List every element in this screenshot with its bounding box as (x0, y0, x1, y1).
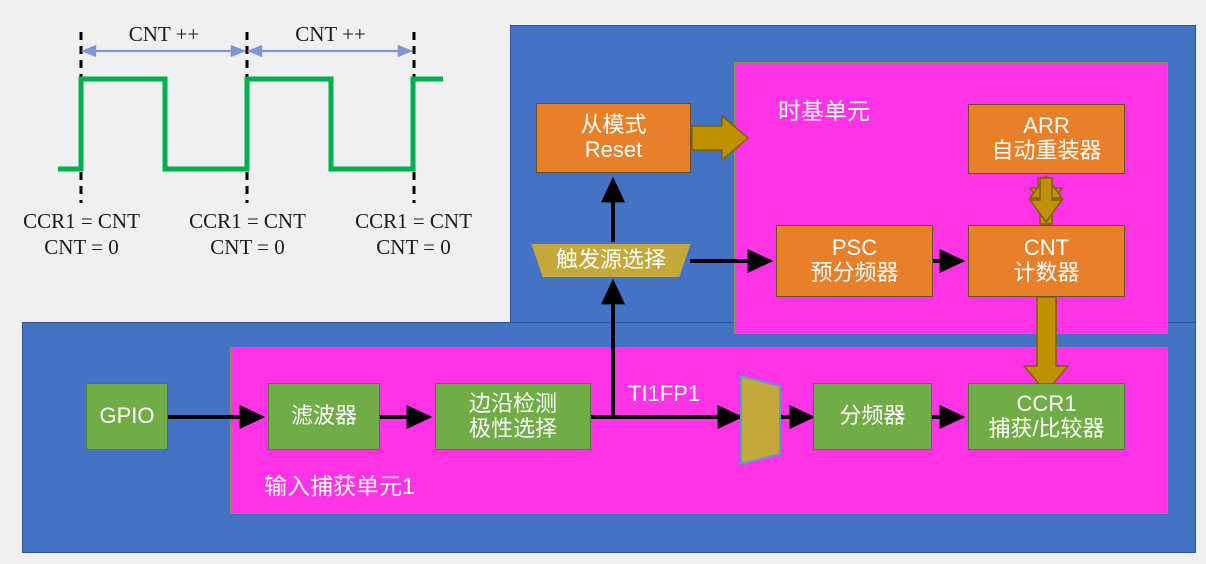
input-capture-mux[interactable] (738, 370, 784, 468)
divider-block[interactable]: 分频器 (813, 383, 932, 450)
trigger-source-select-block[interactable]: 触发源选择 (528, 242, 694, 280)
ccr1-block[interactable]: CCR1 捕获/比较器 (968, 383, 1125, 450)
marker-label-2: CCR1 = CNT CNT = 0 (332, 208, 495, 261)
edge-detect-block[interactable]: 边沿检测 极性选择 (435, 383, 591, 450)
interval-label-1: CNT ++ (249, 22, 412, 47)
marker-label-0: CCR1 = CNT CNT = 0 (0, 208, 163, 261)
arr-block[interactable]: ARR 自动重装器 (968, 104, 1125, 174)
marker-label-1: CCR1 = CNT CNT = 0 (166, 208, 329, 261)
filter-block[interactable]: 滤波器 (268, 383, 380, 450)
slave-mode-block[interactable]: 从模式 Reset (536, 103, 691, 173)
cnt-block[interactable]: CNT 计数器 (968, 225, 1125, 297)
ti1fp1-signal-label: TI1FP1 (628, 382, 700, 406)
waveform-panel: CNT ++ CNT ++ CCR1 = CNT CNT = 0 CCR1 = … (0, 0, 510, 316)
diagram-canvas: 时基单元 输入捕获单元1 (0, 0, 1206, 564)
psc-block[interactable]: PSC 预分频器 (776, 225, 933, 297)
interval-label-0: CNT ++ (83, 22, 245, 47)
waveform-plot (0, 0, 510, 316)
gpio-block[interactable]: GPIO (86, 383, 168, 450)
